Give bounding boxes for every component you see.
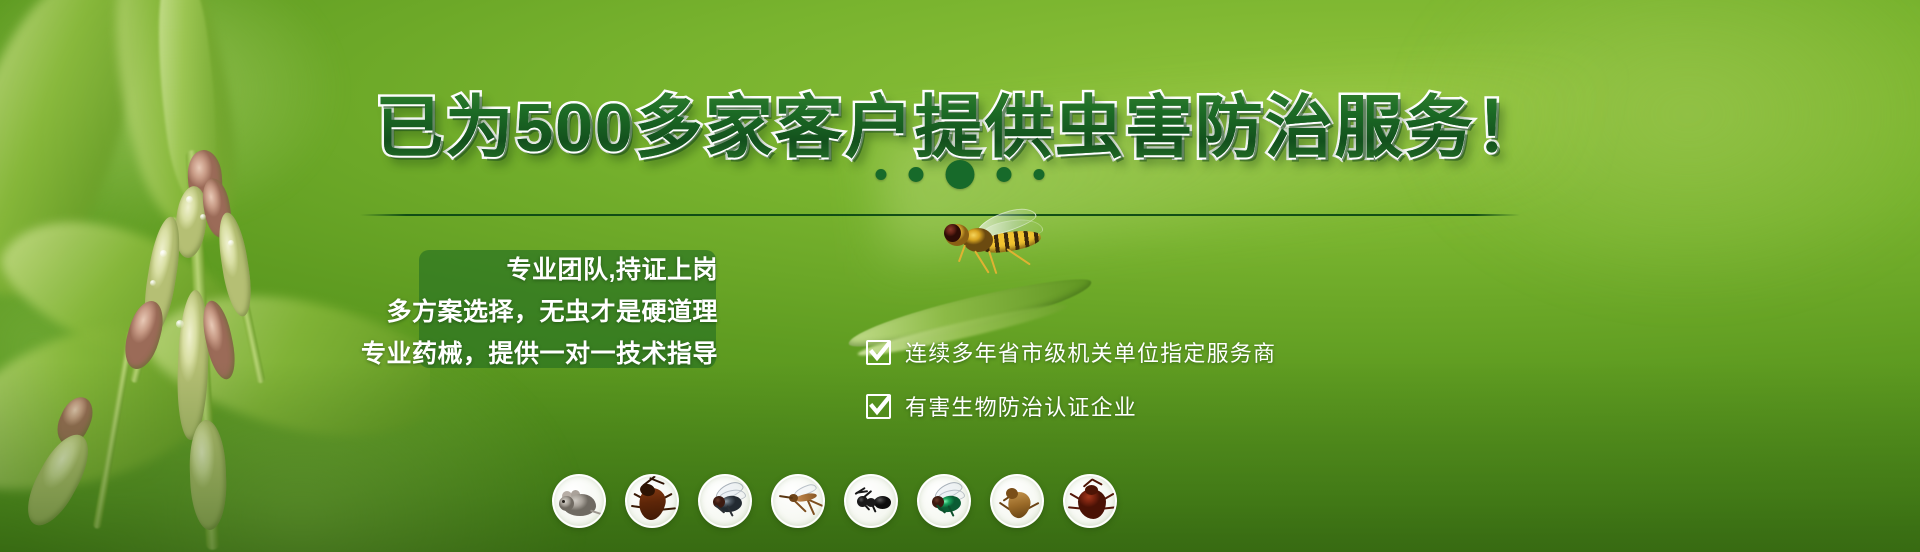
selling-point-line-3: 专业药械，提供一对一技术指导 (361, 334, 718, 370)
selling-point-line-1: 专业团队,持证上岗 (507, 250, 718, 286)
bedbug-icon (1063, 474, 1117, 528)
cockroach-icon (625, 474, 679, 528)
circle-dot-icon (1034, 169, 1045, 180)
selling-points-text-group: 专业团队,持证上岗 多方案选择，无虫才是硬道理 专业药械，提供一对一技术指导 (340, 252, 740, 368)
circle-dot-icon (946, 160, 975, 189)
selling-point-line-2: 多方案选择，无虫才是硬道理 (386, 292, 718, 328)
flea-icon (990, 474, 1044, 528)
compound-eye-shape (944, 224, 961, 242)
mouse-icon (552, 474, 606, 528)
pest-control-hero-banner: 已为500多家客户提供虫害防治服务！ 已为500多家客户提供虫害防治服务！ 专业… (0, 0, 1920, 552)
mosquito-icon (771, 474, 825, 528)
checkbox-check-icon (866, 394, 891, 419)
checkbox-check-icon (866, 340, 891, 365)
page-title: 已为500多家客户提供虫害防治服务！ (375, 72, 1544, 171)
bullet-label: 连续多年省市级机关单位指定服务商 (905, 336, 1276, 368)
circle-dot-icon (909, 167, 924, 182)
horizontal-divider (360, 214, 1520, 216)
pest-icon-row (552, 474, 1117, 528)
circle-dot-icon (997, 167, 1012, 182)
certification-bullet-list: 连续多年省市级机关单位指定服务商 有害生物防治认证企业 (866, 336, 1276, 422)
list-item: 连续多年省市级机关单位指定服务商 (866, 336, 1276, 368)
bullet-label: 有害生物防治认证企业 (905, 390, 1137, 422)
housefly-icon (698, 474, 752, 528)
decorative-dot-row (876, 160, 1045, 189)
ant-icon (844, 474, 898, 528)
list-item: 有害生物防治认证企业 (866, 390, 1276, 422)
hoverfly-icon (941, 210, 1061, 280)
circle-dot-icon (876, 169, 887, 180)
green-bottle-fly-icon (917, 474, 971, 528)
